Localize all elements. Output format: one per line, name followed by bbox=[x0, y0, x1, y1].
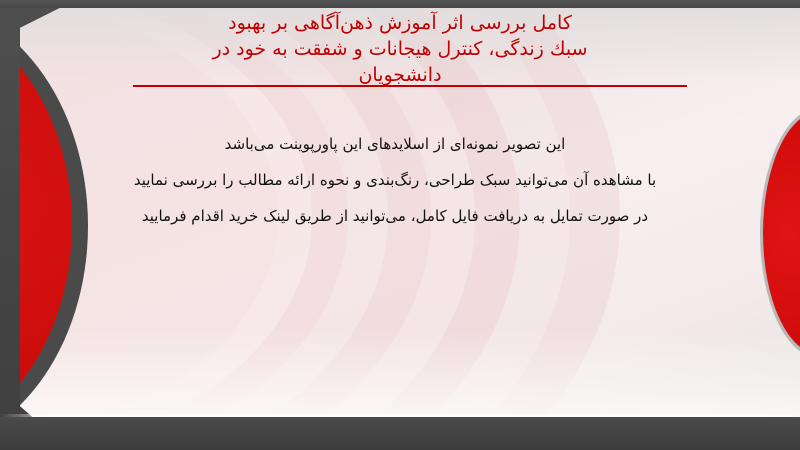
slide-body-text: این تصویر نمونه‌ای از اسلایدهای این پاور… bbox=[0, 126, 790, 234]
presentation-slide: کامل بررسی اثر آموزش ذهن‌آگاهی بر بهبود … bbox=[0, 0, 800, 450]
slide-body-line-3: در صورت تمایل به دریافت فایل کامل، می‌تو… bbox=[0, 198, 790, 234]
slide-bottom-frame-bar bbox=[0, 417, 800, 450]
slide-top-frame-bar bbox=[0, 0, 800, 8]
slide-content-panel: کامل بررسی اثر آموزش ذهن‌آگاهی بر بهبود … bbox=[0, 8, 800, 420]
slide-title-line-1: کامل بررسی اثر آموزش ذهن‌آگاهی بر بهبود bbox=[0, 10, 800, 36]
slide-body-line-2: با مشاهده آن می‌توانید سبک طراحی، رنگ‌بن… bbox=[0, 162, 790, 198]
slide-title: کامل بررسی اثر آموزش ذهن‌آگاهی بر بهبود … bbox=[0, 10, 800, 88]
title-underline bbox=[133, 85, 687, 87]
slide-body-line-1: این تصویر نمونه‌ای از اسلایدهای این پاور… bbox=[0, 126, 790, 162]
slide-title-line-2: سبك زندگی، کنترل هیجانات و شفقت به خود د… bbox=[0, 36, 800, 62]
